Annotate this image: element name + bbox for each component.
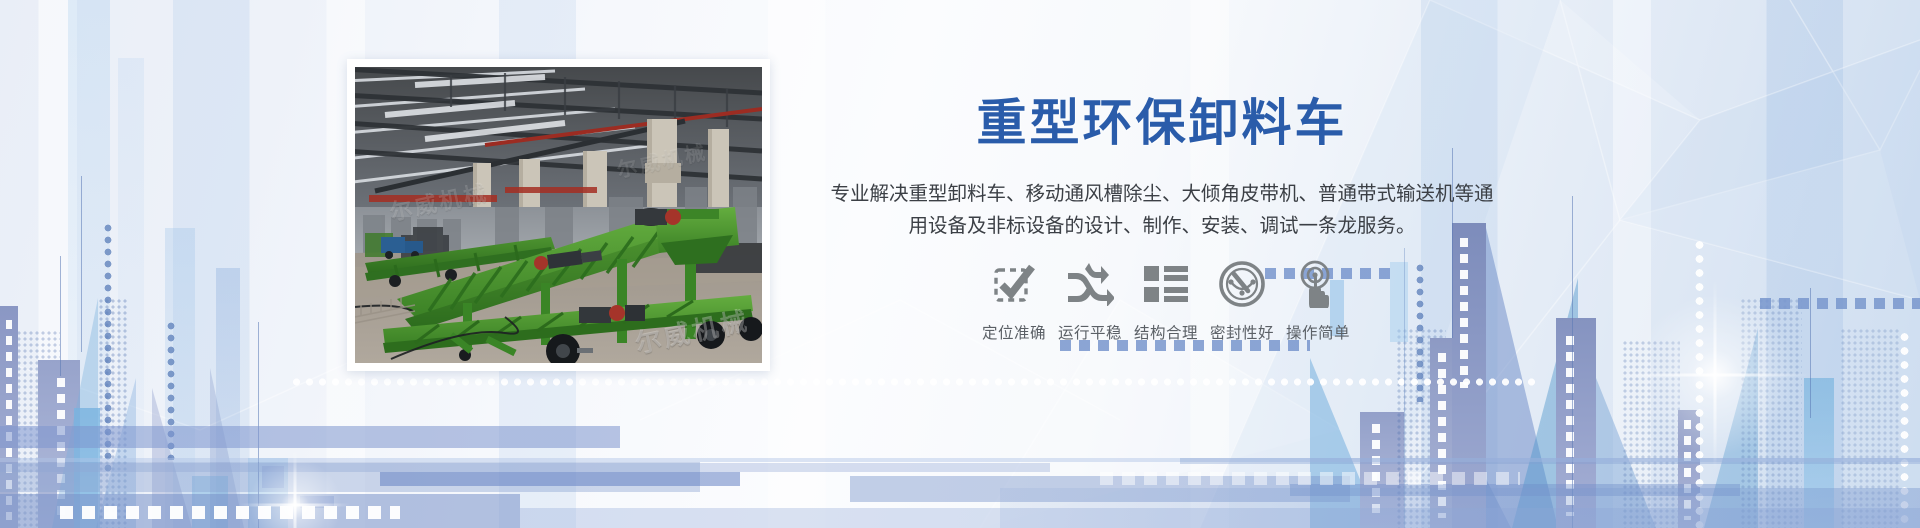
product-photo-frame: 尔威机械 尔威机械 尔威机械 <box>347 59 770 371</box>
background-divider-right-features <box>1404 248 1405 528</box>
dashed-box-check-icon <box>986 256 1042 312</box>
feature-item-operation[interactable]: 操作简单 <box>1280 256 1356 343</box>
feature-label: 结构合理 <box>1134 321 1198 343</box>
feature-item-stability[interactable]: 运行平稳 <box>1052 256 1128 343</box>
banner-description: 专业解决重型卸料车、移动通风槽除尘、大倾角皮带机、普通带式输送机等通用设备及非标… <box>812 179 1512 242</box>
background-dotrow-1 <box>290 378 1540 386</box>
feature-label: 操作简单 <box>1286 321 1350 343</box>
background-spire-left-1 <box>81 176 82 352</box>
list-blocks-icon <box>1138 256 1194 312</box>
feature-item-structure[interactable]: 结构合理 <box>1128 256 1204 343</box>
feature-item-sealing[interactable]: 密封性好 <box>1204 256 1280 343</box>
feature-label: 密封性好 <box>1210 321 1274 343</box>
background-sqrow-white-2 <box>1100 472 1520 485</box>
product-photo: 尔威机械 尔威机械 尔威机械 <box>355 67 762 363</box>
feature-label: 定位准确 <box>982 321 1046 343</box>
page-title: 重型环保卸料车 <box>812 96 1512 151</box>
background-sqrow-white-1 <box>60 506 400 519</box>
feature-list: 定位准确 运行平稳 <box>836 256 1496 343</box>
background-sqrow-3 <box>1760 298 1920 309</box>
background-spire-left-2 <box>60 256 61 376</box>
feature-label: 运行平稳 <box>1058 321 1122 343</box>
feature-item-positioning[interactable]: 定位准确 <box>976 256 1052 343</box>
hand-tap-icon <box>1290 256 1346 312</box>
shuffle-arrows-icon <box>1062 256 1118 312</box>
gauge-seal-icon <box>1214 256 1270 312</box>
banner-text-block: 重型环保卸料车 专业解决重型卸料车、移动通风槽除尘、大倾角皮带机、普通带式输送机… <box>812 96 1512 242</box>
hero-banner: 尔威机械 尔威机械 尔威机械 重型环保卸料车 专业解决重型卸料车、移动通风槽除尘… <box>0 0 1920 528</box>
